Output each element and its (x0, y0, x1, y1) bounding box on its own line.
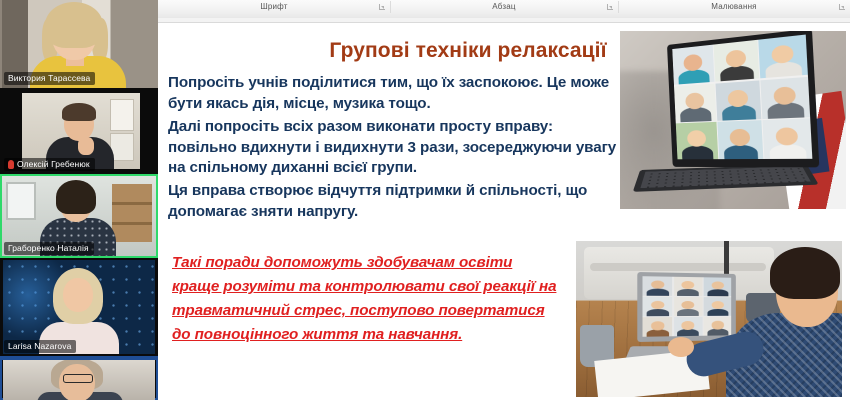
ribbon-group-font[interactable]: Шрифт (158, 1, 391, 13)
slide-paragraph-3: Ця вправа створює відчуття підтримки й с… (168, 181, 620, 222)
ribbon-group-label: Шрифт (260, 1, 287, 13)
participant-name: Виктория Тарассева (8, 73, 90, 84)
video-frame (0, 356, 158, 400)
person-at-desk-video-call-photo[interactable] (576, 241, 842, 397)
slide-highlight-text: Такі поради допоможуть здобувачам освіти… (172, 251, 558, 347)
ribbon-group-paragraph[interactable]: Абзац (390, 1, 619, 13)
ribbon-group-label: Малювання (711, 1, 756, 13)
video-tile-participant-2[interactable]: Олексій Гребенюк (0, 88, 158, 174)
participant-name-badge: Граборенко Наталія (4, 242, 94, 255)
dialog-launcher-icon[interactable] (379, 4, 386, 11)
video-tile-participant-3[interactable]: Граборенко Наталія (0, 174, 158, 258)
word-ribbon: Шрифт Абзац Малювання (158, 0, 850, 19)
dialog-launcher-icon[interactable] (839, 4, 846, 11)
participant-name-badge: Виктория Тарассева (4, 72, 95, 85)
participant-name: Олексій Гребенюк (17, 159, 90, 170)
slide-paragraph-2: Далі попросіть всіх разом виконати прост… (168, 117, 620, 179)
participant-name-badge: Larisa Nazarova (4, 340, 76, 353)
microphone-muted-icon (8, 160, 14, 169)
ribbon-group-label: Абзац (492, 1, 515, 13)
video-conference-panel: Виктория Тарассева Олексій Гребенюк (0, 0, 158, 400)
laptop-video-grid-photo[interactable] (620, 31, 846, 209)
participant-name: Larisa Nazarova (8, 341, 71, 352)
ribbon-group-drawing[interactable]: Малювання (618, 1, 850, 13)
slide-paragraph-1: Попросіть учнів поділитися тим, що їх за… (168, 73, 620, 114)
video-tile-participant-1[interactable]: Виктория Тарассева (0, 0, 158, 88)
participant-name: Граборенко Наталія (8, 243, 89, 254)
video-tile-participant-5[interactable] (0, 356, 158, 400)
dialog-launcher-icon[interactable] (607, 4, 614, 11)
slide-title: Групові техніки релаксації (258, 39, 678, 63)
screen-root: Виктория Тарассева Олексій Гребенюк (0, 0, 850, 400)
document-canvas[interactable]: Групові техніки релаксації Попросіть учн… (158, 23, 850, 400)
video-tile-participant-4[interactable]: Larisa Nazarova (0, 258, 158, 356)
participant-name-badge: Олексій Гребенюк (4, 158, 95, 171)
